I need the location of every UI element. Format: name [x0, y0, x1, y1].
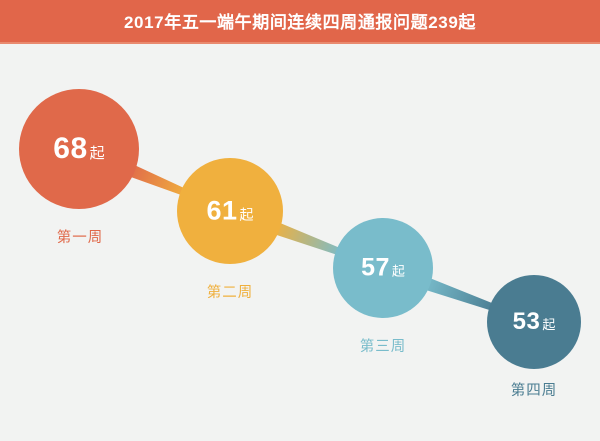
connector-week2-week3: [270, 221, 345, 257]
infographic-root: 2017年五一端午期间连续四周通报问题239起: [0, 0, 600, 441]
bubble-week-3[interactable]: [333, 218, 433, 318]
week-label-3: 第三周: [360, 340, 407, 355]
bubble-week-1[interactable]: [19, 89, 139, 209]
bubble-week-4[interactable]: [487, 275, 581, 369]
bubble-chart-canvas: [0, 0, 600, 441]
connector-week3-week4: [420, 276, 498, 312]
bubble-week-2[interactable]: [177, 158, 283, 264]
week-label-2: 第二周: [207, 286, 254, 301]
connector-group: [125, 163, 499, 312]
week-label-4: 第四周: [511, 384, 558, 399]
week-label-1: 第一周: [57, 231, 104, 246]
